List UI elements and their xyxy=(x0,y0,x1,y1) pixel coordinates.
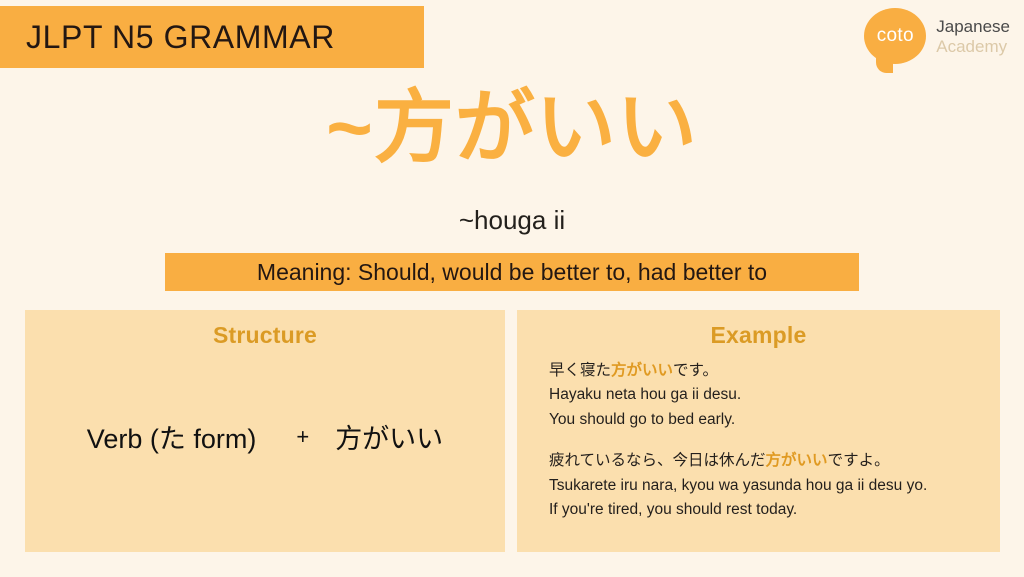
example-english: If you're tired, you should rest today. xyxy=(549,498,984,522)
logo-wordmark: Japanese Academy xyxy=(936,8,1010,57)
example-japanese-suffix: です。 xyxy=(673,362,718,379)
example-romaji: Tsukarete iru nara, kyou wa yasunda hou … xyxy=(549,474,984,498)
example-list: 早く寝た方がいいです。 Hayaku neta hou ga ii desu. … xyxy=(517,349,1000,523)
grammar-point-romaji: ~houga ii xyxy=(0,205,1024,236)
example-english: You should go to bed early. xyxy=(549,408,984,432)
logo-wordmark-line-2: Academy xyxy=(936,37,1010,57)
grammar-point-japanese: ~方がいい xyxy=(0,88,1024,168)
example-japanese: 疲れているなら、今日は休んだ方がいいですよ。 xyxy=(549,449,984,473)
logo-wordmark-line-1: Japanese xyxy=(936,17,1010,37)
example-japanese-prefix: 疲れているなら、今日は休んだ xyxy=(549,452,766,469)
example-romaji: Hayaku neta hou ga ii desu. xyxy=(549,383,984,407)
speech-bubble-icon: coto xyxy=(864,8,926,64)
structure-panel: Structure Verb (た form) + 方がいい xyxy=(25,310,505,552)
example-item: 早く寝た方がいいです。 Hayaku neta hou ga ii desu. … xyxy=(549,359,984,432)
example-panel: Example 早く寝た方がいいです。 Hayaku neta hou ga i… xyxy=(517,310,1000,552)
meaning-text: Meaning: Should, would be better to, had… xyxy=(257,259,767,286)
example-japanese-highlight: 方がいい xyxy=(766,452,828,469)
logo-brand-name: coto xyxy=(877,25,914,47)
example-item: 疲れているなら、今日は休んだ方がいいですよ。 Tsukarete iru nar… xyxy=(549,449,984,522)
structure-formula: Verb (た form) + 方がいい xyxy=(25,349,505,524)
structure-plus-operator: + xyxy=(296,424,309,450)
example-japanese-prefix: 早く寝た xyxy=(549,362,611,379)
example-japanese-highlight: 方がいい xyxy=(611,362,673,379)
example-japanese-suffix: ですよ。 xyxy=(828,452,890,469)
meaning-banner: Meaning: Should, would be better to, had… xyxy=(165,253,859,291)
example-heading: Example xyxy=(517,310,1000,349)
header-banner: JLPT N5 GRAMMAR xyxy=(0,6,424,68)
structure-heading: Structure xyxy=(25,310,505,349)
example-japanese: 早く寝た方がいいです。 xyxy=(549,359,984,383)
coto-japanese-academy-logo: coto Japanese Academy xyxy=(864,8,1010,64)
structure-right-term: 方がいい xyxy=(335,417,443,456)
page-title: JLPT N5 GRAMMAR xyxy=(26,19,335,56)
structure-left-term: Verb (た form) xyxy=(87,417,257,456)
